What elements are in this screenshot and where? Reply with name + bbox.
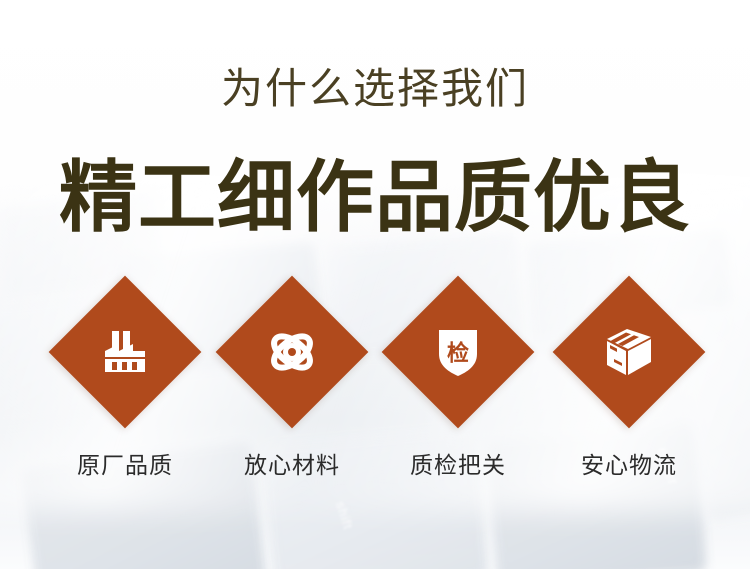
feature-list: 原厂品质 放心材料 bbox=[0, 276, 750, 506]
feature-diamond bbox=[238, 298, 346, 406]
feature-diamond: 检 bbox=[404, 298, 512, 406]
feature-label: 质检把关 bbox=[378, 446, 538, 480]
shield-inspect-icon: 检 bbox=[404, 298, 512, 406]
feature-diamond bbox=[575, 298, 683, 406]
banner-headline: 精工细作品质优良 bbox=[0, 158, 750, 236]
feature-item-safe-logistics[interactable]: 安心物流 bbox=[549, 276, 709, 480]
feature-label: 原厂品质 bbox=[45, 446, 205, 480]
atom-icon bbox=[238, 298, 346, 406]
banner-subtitle: 为什么选择我们 bbox=[0, 68, 750, 110]
feature-label: 放心材料 bbox=[212, 446, 372, 480]
feature-item-original-quality[interactable]: 原厂品质 bbox=[45, 276, 205, 480]
factory-icon bbox=[71, 298, 179, 406]
feature-item-quality-inspection[interactable]: 检 质检把关 bbox=[378, 276, 538, 480]
shield-character: 检 bbox=[435, 335, 481, 367]
feature-label: 安心物流 bbox=[549, 446, 709, 480]
feature-item-trusted-material[interactable]: 放心材料 bbox=[212, 276, 372, 480]
package-box-icon bbox=[575, 298, 683, 406]
feature-diamond bbox=[71, 298, 179, 406]
promo-banner: enter shift 为什么选择我们 精工细作品质优良 bbox=[0, 0, 750, 569]
